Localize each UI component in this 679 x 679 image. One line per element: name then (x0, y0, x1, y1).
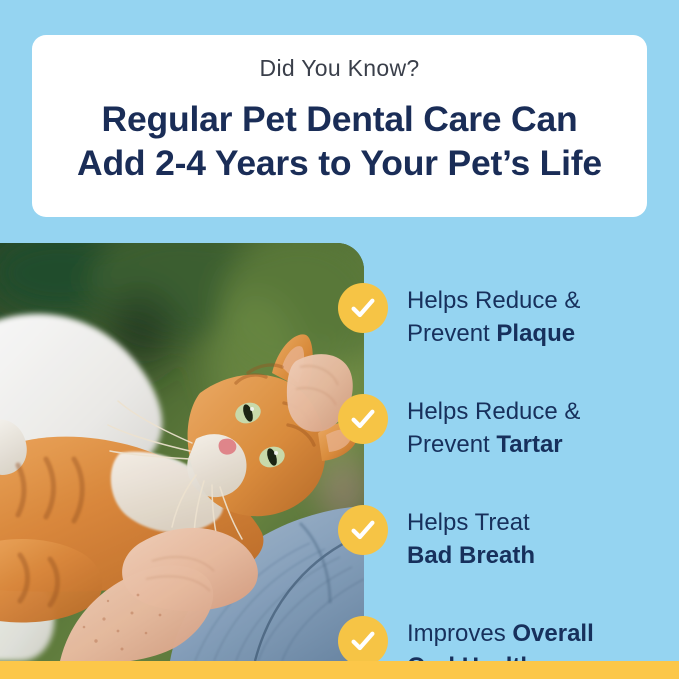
list-item: Helps Treat Bad Breath (338, 505, 668, 572)
list-item-line-2-bold: Plaque (496, 320, 575, 347)
list-item: Helps Reduce & Prevent Plaque (338, 283, 668, 350)
benefits-checklist: Helps Reduce & Prevent Plaque Helps Redu… (338, 283, 668, 679)
list-item-line-1-plain: Improves (407, 620, 512, 647)
list-item-line-2-bold: Bad Breath (407, 542, 535, 569)
check-icon (338, 505, 388, 555)
check-icon (338, 283, 388, 333)
list-item-line-1: Helps Treat (407, 506, 668, 539)
list-item-text: Helps Reduce & Prevent Plaque (407, 283, 668, 350)
list-item-line-2: Bad Breath (407, 539, 668, 572)
headline-line-1: Regular Pet Dental Care Can (77, 97, 602, 141)
list-item: Helps Reduce & Prevent Tartar (338, 394, 668, 461)
list-item-line-2-plain: Prevent (407, 431, 496, 458)
list-item-line-1-bold: Overall (512, 620, 593, 647)
header-card: Did You Know? Regular Pet Dental Care Ca… (32, 35, 647, 217)
list-item-line-2: Prevent Plaque (407, 317, 668, 350)
check-icon (338, 616, 388, 666)
headline: Regular Pet Dental Care Can Add 2-4 Year… (77, 97, 602, 185)
list-item-line-1: Helps Reduce & (407, 395, 668, 428)
list-item-line-2-plain: Prevent (407, 320, 496, 347)
list-item-line-1: Helps Reduce & (407, 284, 668, 317)
list-item-text: Helps Treat Bad Breath (407, 505, 668, 572)
headline-line-2: Add 2-4 Years to Your Pet’s Life (77, 141, 602, 185)
eyebrow-text: Did You Know? (260, 54, 420, 83)
pet-dental-care-infographic: Did You Know? Regular Pet Dental Care Ca… (0, 0, 679, 679)
list-item-line-1: Improves Overall (407, 617, 668, 650)
list-item-text: Helps Reduce & Prevent Tartar (407, 394, 668, 461)
check-icon (338, 394, 388, 444)
bottom-accent-strip (0, 661, 679, 679)
list-item-line-2: Prevent Tartar (407, 428, 668, 461)
list-item-line-2-bold: Tartar (496, 431, 562, 458)
cat-photo (0, 243, 364, 661)
